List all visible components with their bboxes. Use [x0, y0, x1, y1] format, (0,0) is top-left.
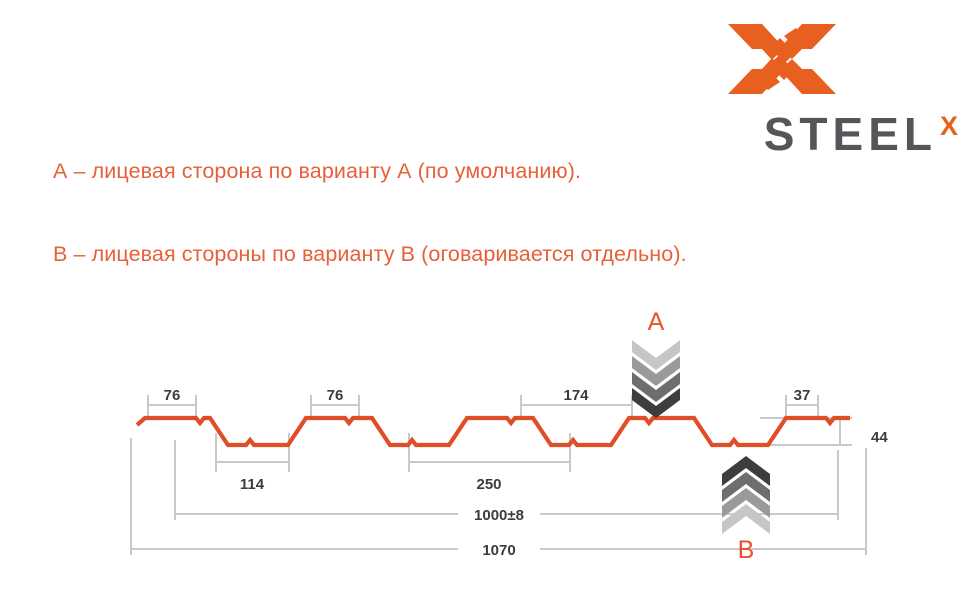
face-a-marker: A — [632, 308, 680, 418]
dimension-bottom-flat: 114 — [240, 476, 265, 493]
dimension-total-width: 1070 — [482, 542, 515, 559]
dimension-ticks — [148, 400, 818, 468]
face-b-label: B — [738, 536, 755, 564]
dimension-height: 44 — [871, 429, 888, 446]
profile-section-outline — [137, 418, 850, 445]
brand-logo: STEEL X — [686, 18, 958, 146]
caption-variant-b: В – лицевая стороны по варианту В (огова… — [53, 242, 687, 267]
dimension-top-flat-left: 76 — [164, 387, 181, 404]
dimension-labels: 76 76 174 37 114 250 44 1000±8 1070 — [164, 387, 889, 559]
face-b-marker: B — [722, 456, 770, 564]
brand-wordmark: STEEL X — [686, 112, 958, 156]
profile-technical-drawing: 76 76 174 37 114 250 44 1000±8 1070 A — [0, 290, 970, 590]
dimension-crest-spacing: 174 — [563, 387, 589, 404]
face-b-chevrons — [722, 456, 770, 534]
profile-datasheet: STEEL X А – лицевая сторона по варианту … — [0, 0, 970, 597]
face-a-label: A — [648, 308, 665, 336]
wordmark-superscript: X — [940, 113, 958, 140]
wordmark-text: STEEL — [764, 112, 937, 156]
caption-variant-a: А – лицевая сторона по варианту А (по ум… — [53, 159, 581, 184]
dimension-top-flat-mid: 76 — [327, 387, 344, 404]
dimension-end-flat: 37 — [794, 387, 811, 404]
face-a-chevrons — [632, 340, 680, 418]
dimension-working-width: 1000±8 — [474, 507, 524, 524]
dimension-pitch: 250 — [476, 476, 501, 493]
steelx-x-mark-icon — [726, 18, 838, 100]
